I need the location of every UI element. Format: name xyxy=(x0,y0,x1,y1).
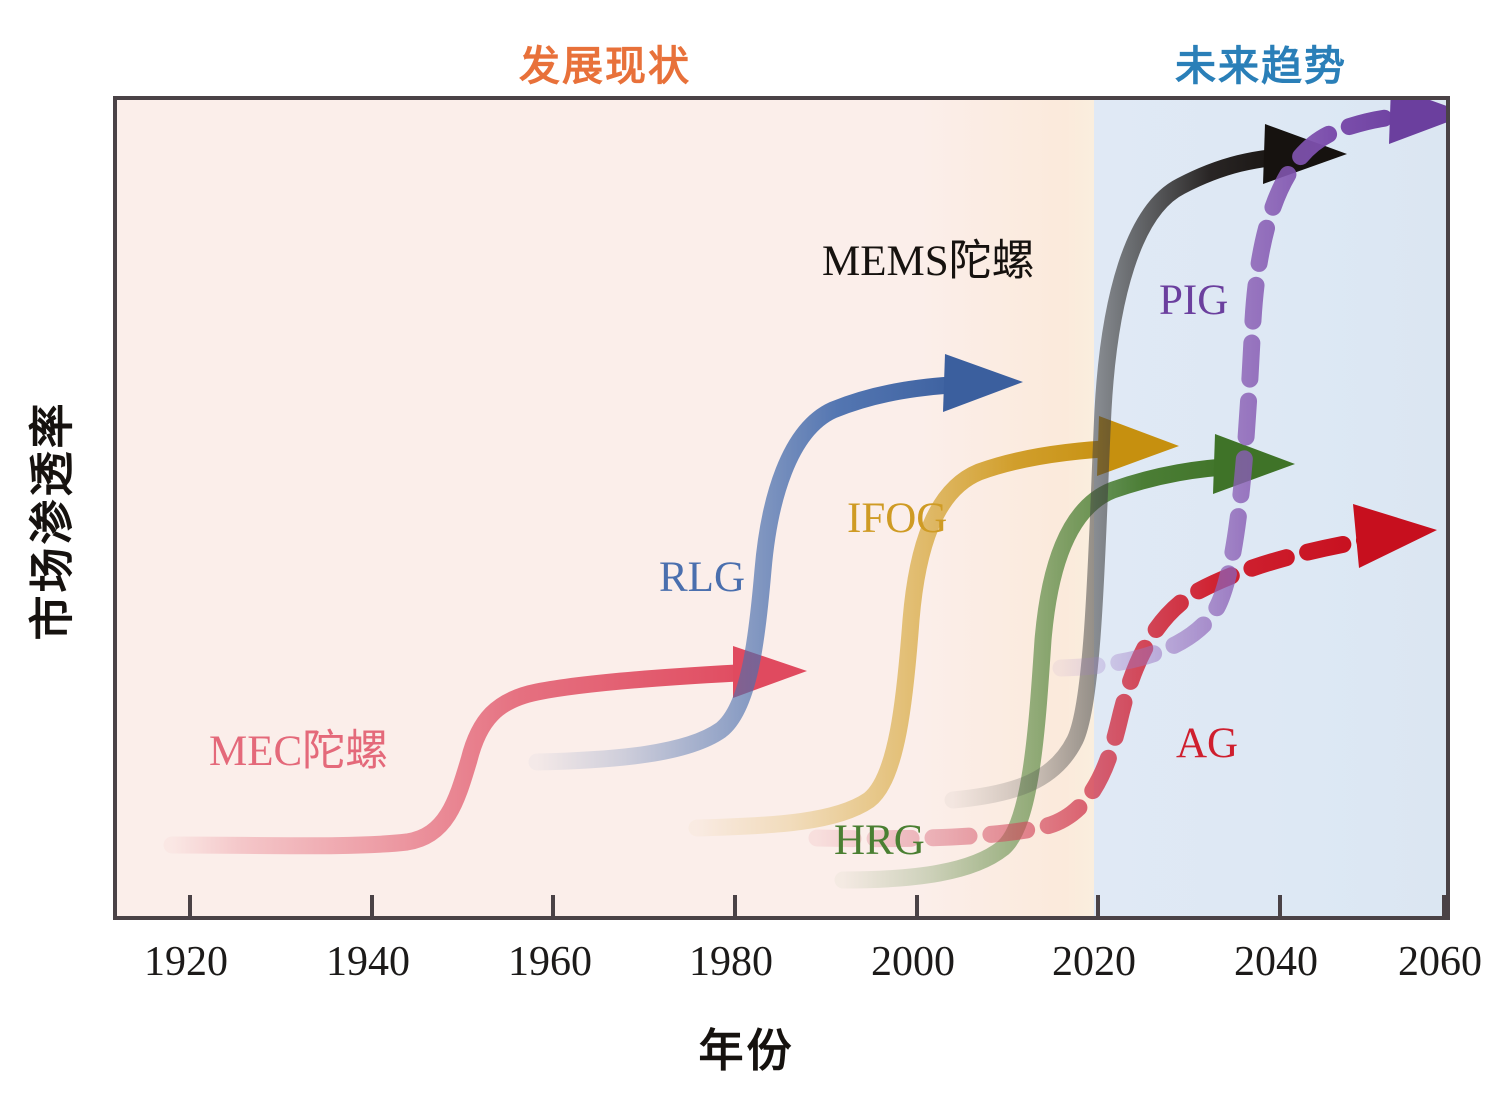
series-curve-pig xyxy=(1061,100,1446,668)
series-label-pig: PIG xyxy=(1159,276,1228,325)
x-axis-ticks xyxy=(117,886,1446,916)
x-tick-label-1980: 1980 xyxy=(651,938,811,986)
phase-title-current: 发展现状 xyxy=(519,32,691,92)
x-tick-label-2020: 2020 xyxy=(1014,938,1174,986)
x-tick-label-2060: 2060 xyxy=(1360,938,1493,986)
series-arrow-pig xyxy=(1389,100,1446,144)
x-tick-label-2000: 2000 xyxy=(833,938,993,986)
series-label-ifog: IFOG xyxy=(847,494,947,543)
series-label-mec: MEC陀螺 xyxy=(209,716,388,778)
series-arrow-hrg xyxy=(1213,434,1295,494)
series-arrow-ag xyxy=(1353,504,1437,568)
series-label-hrg: HRG xyxy=(834,816,925,865)
series-label-mems: MEMS陀螺 xyxy=(822,226,1035,288)
x-tick-label-2040: 2040 xyxy=(1196,938,1356,986)
curves-layer xyxy=(117,100,1446,916)
phase-title-future: 未来趋势 xyxy=(1175,32,1347,92)
plot-area: MEC陀螺 RLG IFOG HRG MEMS陀螺 AG PIG xyxy=(113,96,1450,920)
series-arrow-rlg xyxy=(943,354,1023,412)
series-curve-rlg xyxy=(537,354,1023,762)
x-tick-label-1920: 1920 xyxy=(106,938,266,986)
series-label-ag: AG xyxy=(1176,719,1238,768)
x-tick-label-1960: 1960 xyxy=(470,938,630,986)
series-label-rlg: RLG xyxy=(659,553,745,602)
y-axis-title: 市场渗透率 xyxy=(16,311,81,731)
x-axis-title: 年份 xyxy=(0,1014,1493,1079)
figure-root: 发展现状 未来趋势 xyxy=(0,0,1493,1095)
x-tick-label-1940: 1940 xyxy=(288,938,448,986)
